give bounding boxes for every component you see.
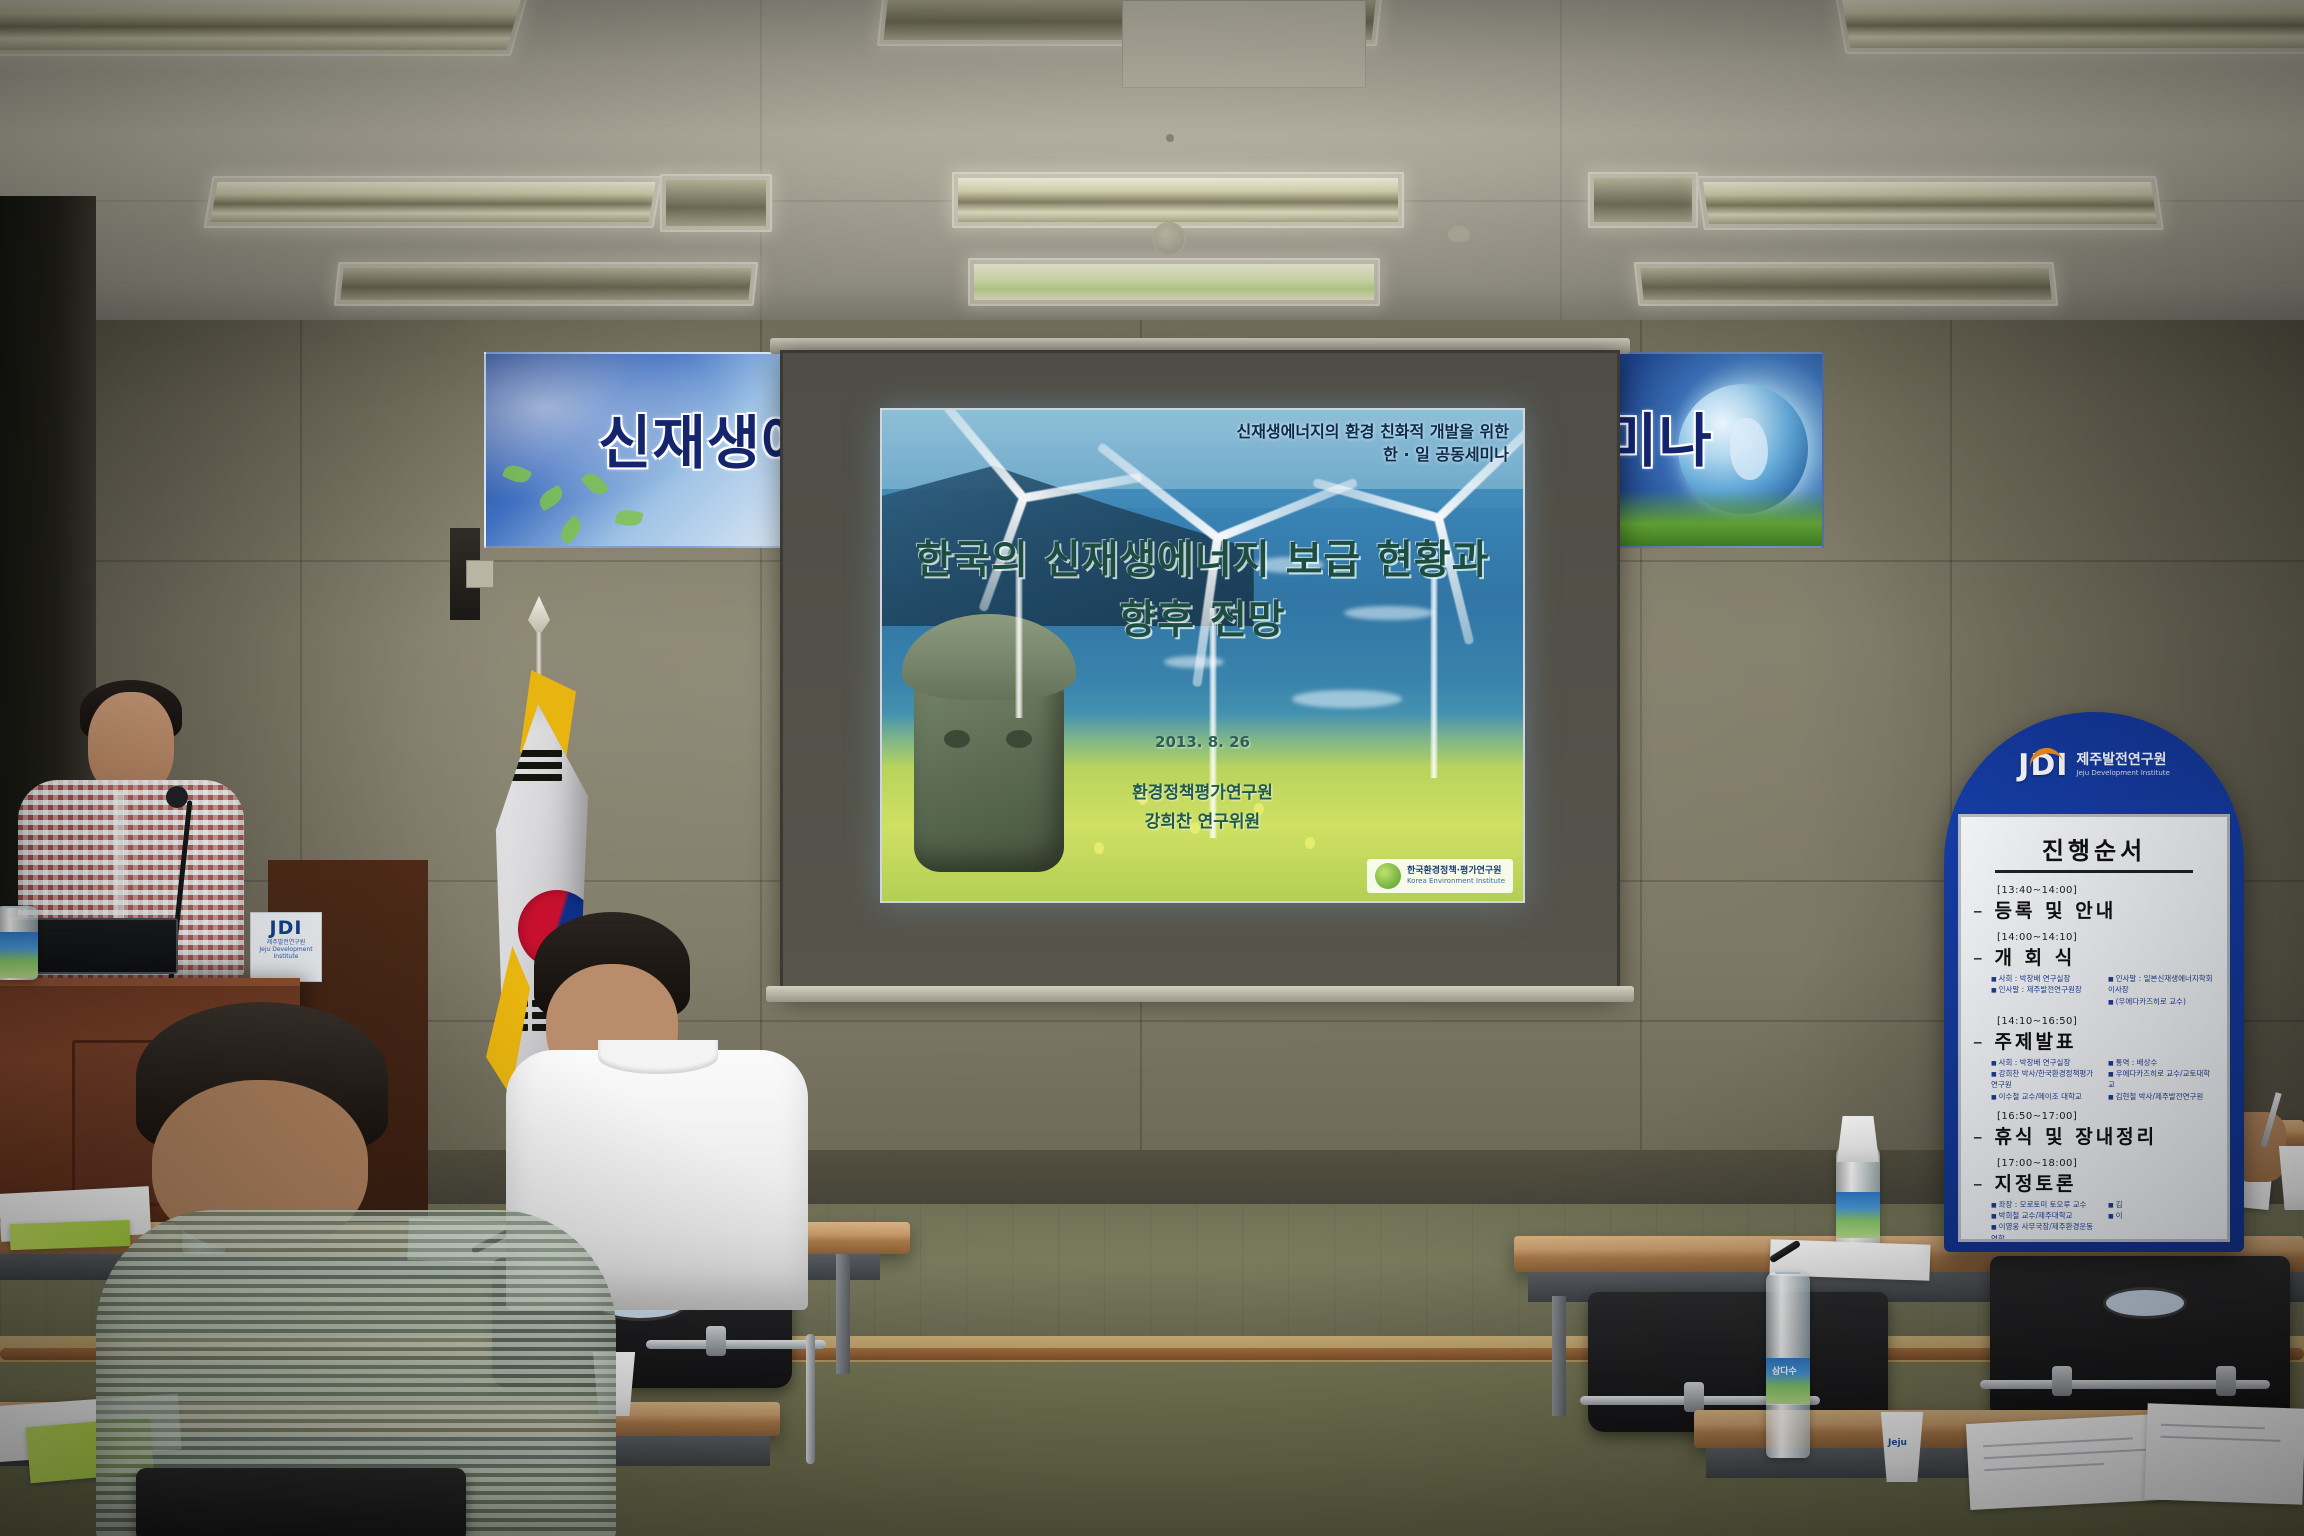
chair-clip xyxy=(2052,1366,2072,1396)
smoke-detector-icon xyxy=(1448,226,1470,242)
agenda-item: [13:40~14:00]등록 및 안내 xyxy=(1973,885,2215,923)
ceiling-light-small xyxy=(1588,172,1698,228)
agenda-detail-line: 사회 : 박창배 연구실장 xyxy=(1991,1057,2098,1068)
chair xyxy=(1990,1256,2290,1422)
jdi-name-block: 제주발전연구원 Jeju Development Institute xyxy=(2076,752,2169,778)
agenda-detail-line: 김 xyxy=(2108,1199,2215,1210)
agenda-detail-line: 이수철 교수/메이조 대학교 xyxy=(1991,1091,2098,1102)
agenda-detail-column: 김이 xyxy=(2108,1199,2215,1242)
agenda-item-label: 주제발표 xyxy=(1973,1027,2215,1054)
chair-rail xyxy=(646,1340,826,1349)
banner-left-text: 신재생에너 xyxy=(598,396,808,480)
document-sheet xyxy=(2144,1403,2304,1504)
agenda-item-label: 휴식 및 장내정리 xyxy=(1973,1122,2215,1149)
trigram-geon xyxy=(510,750,562,786)
chair-clip xyxy=(706,1326,726,1356)
agenda-detail-column: 사회 : 박창배 연구실장인사말 : 제주발전연구원장 xyxy=(1991,973,2098,1007)
podium-sign-logo: JDI xyxy=(254,917,318,939)
agenda-item-time: [17:00~18:00] xyxy=(1997,1158,2215,1169)
agenda-item-time: [16:50~17:00] xyxy=(1997,1111,2215,1122)
agenda-detail-line: 사회 : 박창배 연구실장 xyxy=(1991,973,2098,984)
agenda-list: [13:40~14:00]등록 및 안내[14:00~14:10]개 회 식사회… xyxy=(1973,885,2215,1242)
ceiling-projector xyxy=(1122,0,1366,88)
ceiling-light xyxy=(0,0,529,56)
audience-person-green-polo xyxy=(116,1002,636,1536)
agenda-detail-line: 이 xyxy=(2108,1210,2215,1221)
agenda-board: 진행순서 [13:40~14:00]등록 및 안내[14:00~14:10]개 … xyxy=(1958,814,2230,1242)
agenda-item: [14:00~14:10]개 회 식사회 : 박창배 연구실장인사말 : 제주발… xyxy=(1973,932,2215,1007)
kei-mark-icon xyxy=(1375,863,1401,889)
slide-title-line1: 한국의 신재생에너지 보급 현황과 xyxy=(882,530,1523,590)
agenda-item: [16:50~17:00]휴식 및 장내정리 xyxy=(1973,1111,2215,1149)
agenda-detail-column: 인사말 : 일본신재생에너지학회 이사장(우에다카즈히로 교수) xyxy=(2108,973,2215,1007)
agenda-item-label: 지정토론 xyxy=(1973,1169,2215,1196)
ceiling-light xyxy=(952,172,1404,228)
banner-right-text: 미나 xyxy=(1604,394,1713,478)
bottle-label: 삼다수 xyxy=(1772,1364,1797,1377)
ceiling-light xyxy=(877,0,1383,46)
ceiling-light xyxy=(334,262,759,306)
ceiling-light xyxy=(968,258,1380,306)
water-bottle xyxy=(0,906,38,980)
agenda-detail-line: 통역 : 배상수 xyxy=(2108,1057,2215,1068)
kei-name-kr: 한국환경정책·평가연구원 xyxy=(1407,866,1502,876)
slide-presenter: 강희찬 연구위원 xyxy=(882,808,1523,837)
agenda-detail-line: 인사말 : 일본신재생에너지학회 이사장 xyxy=(2108,973,2215,996)
agenda-item-label: 등록 및 안내 xyxy=(1973,896,2215,923)
agenda-detail-column: 사회 : 박창배 연구실장강희찬 박사/한국환경정책평가연구원이수철 교수/메이… xyxy=(1991,1057,2098,1102)
projector-beam xyxy=(1125,0,1361,78)
podium-sign-name-en: Jeju Development Institute xyxy=(254,946,318,960)
kei-logo-text: 한국환경정책·평가연구원 Korea Environment Institute xyxy=(1407,866,1505,886)
seminar-room-photo: 신재생에너 미나 xyxy=(0,0,2304,1536)
banner-right: 미나 xyxy=(1596,352,1824,548)
ceiling-light-small xyxy=(660,174,772,232)
chair-leg xyxy=(806,1334,815,1464)
kei-name-en: Korea Environment Institute xyxy=(1407,877,1505,886)
slide-organization: 환경정책평가연구원 xyxy=(882,779,1523,808)
notepad-green xyxy=(10,1220,131,1250)
agenda-item-time: [14:10~16:50] xyxy=(1997,1016,2215,1027)
agenda-item-time: [13:40~14:00] xyxy=(1997,885,2215,896)
chair-clip xyxy=(2216,1366,2236,1396)
chair-clip xyxy=(1684,1382,1704,1412)
ceiling-light xyxy=(1835,0,2304,54)
table-leg xyxy=(1552,1296,1566,1416)
kei-logo: 한국환경정책·평가연구원 Korea Environment Institute xyxy=(1367,859,1513,893)
agenda-detail-column: 통역 : 배상수우에다카즈히로 교수/교토대학교김현철 박사/제주발전연구원 xyxy=(2108,1057,2215,1102)
banner-left: 신재생에너 xyxy=(484,352,808,548)
agenda-detail-line: 강희찬 박사/한국환경정책평가연구원 xyxy=(1991,1068,2098,1091)
microphone-head-icon xyxy=(166,786,188,808)
screen-bottom-bar xyxy=(766,986,1634,1002)
grass-graphic xyxy=(1598,490,1822,546)
slide-header: 신재생에너지의 환경 친화적 개발을 위한 한 · 일 공동세미나 xyxy=(1009,420,1509,466)
agenda-item-label: 개 회 식 xyxy=(1973,943,2215,970)
jdi-stand-header: JDI 제주발전연구원 Jeju Development Institute xyxy=(1944,722,2244,808)
agenda-detail-line: 우에다카즈히로 교수/교토대학교 xyxy=(2108,1068,2215,1091)
slide-date: 2013. 8. 26 xyxy=(882,733,1523,751)
podium-sign-name-kr: 제주발전연구원 xyxy=(254,939,318,946)
agenda-detail-line: 박희철 교수/제주대학교 xyxy=(1991,1210,2098,1221)
jdi-name-en: Jeju Development Institute xyxy=(2076,769,2169,778)
chair xyxy=(136,1468,466,1536)
agenda-item: [17:00~18:00]지정토론좌장 : 모로토미 토오루 교수박희철 교수/… xyxy=(1973,1158,2215,1242)
agenda-item-details: 사회 : 박창배 연구실장강희찬 박사/한국환경정책평가연구원이수철 교수/메이… xyxy=(1991,1057,2215,1102)
slide-title: 한국의 신재생에너지 보급 현황과 향후 전망 xyxy=(882,530,1523,650)
wall-outlet-plate xyxy=(466,560,494,588)
slide-title-line2: 향후 전망 xyxy=(882,590,1523,650)
ceiling-sensor-icon xyxy=(1166,134,1174,142)
agenda-item-details: 좌장 : 모로토미 토오루 교수박희철 교수/제주대학교이영웅 사무국장/제주환… xyxy=(1991,1199,2215,1242)
slide-header-line1: 신재생에너지의 환경 친화적 개발을 위한 xyxy=(1009,420,1509,443)
agenda-detail-line: 이영웅 사무국장/제주환경운동연합 xyxy=(1991,1221,2098,1242)
agenda-detail-line: 인사말 : 제주발전연구원장 xyxy=(1991,984,2098,995)
water-bottle: 삼다수 xyxy=(1766,1272,1810,1458)
ceiling xyxy=(0,0,2304,335)
agenda-item-time: [14:00~14:10] xyxy=(1997,932,2215,943)
jdi-agenda-stand: JDI 제주발전연구원 Jeju Development Institute 진… xyxy=(1944,712,2244,1252)
chair-handle-slot xyxy=(2106,1290,2184,1316)
agenda-item-details: 사회 : 박창배 연구실장인사말 : 제주발전연구원장인사말 : 일본신재생에너… xyxy=(1991,973,2215,1007)
agenda-item: [14:10~16:50]주제발표사회 : 박창배 연구실장강희찬 박사/한국환… xyxy=(1973,1016,2215,1102)
agenda-detail-line: 좌장 : 모로토미 토오루 교수 xyxy=(1991,1199,2098,1210)
flag-finial-icon xyxy=(528,596,550,636)
ceiling-light xyxy=(203,176,662,228)
ceiling-speaker-icon xyxy=(1152,222,1186,256)
agenda-detail-column: 좌장 : 모로토미 토오루 교수박희철 교수/제주대학교이영웅 사무국장/제주환… xyxy=(1991,1199,2098,1242)
slide-header-line2: 한 · 일 공동세미나 xyxy=(1009,443,1509,466)
slide-footer: 환경정책평가연구원 강희찬 연구위원 xyxy=(882,779,1523,837)
table-leg xyxy=(836,1254,850,1374)
projected-slide: 신재생에너지의 환경 친화적 개발을 위한 한 · 일 공동세미나 한국의 신재… xyxy=(880,408,1525,903)
agenda-title: 진행순서 xyxy=(1995,831,2193,873)
agenda-detail-line: (우에다카즈히로 교수) xyxy=(2108,996,2215,1007)
podium-jdi-sign: JDI 제주발전연구원 Jeju Development Institute xyxy=(250,912,322,982)
ceiling-light xyxy=(1696,176,2164,230)
cup-brand-mark: Jeju xyxy=(1888,1438,1907,1448)
ceiling-light xyxy=(1634,262,2059,306)
agenda-detail-line: 김현철 박사/제주발전연구원 xyxy=(2108,1091,2215,1102)
jdi-name-kr: 제주발전연구원 xyxy=(2076,752,2166,768)
